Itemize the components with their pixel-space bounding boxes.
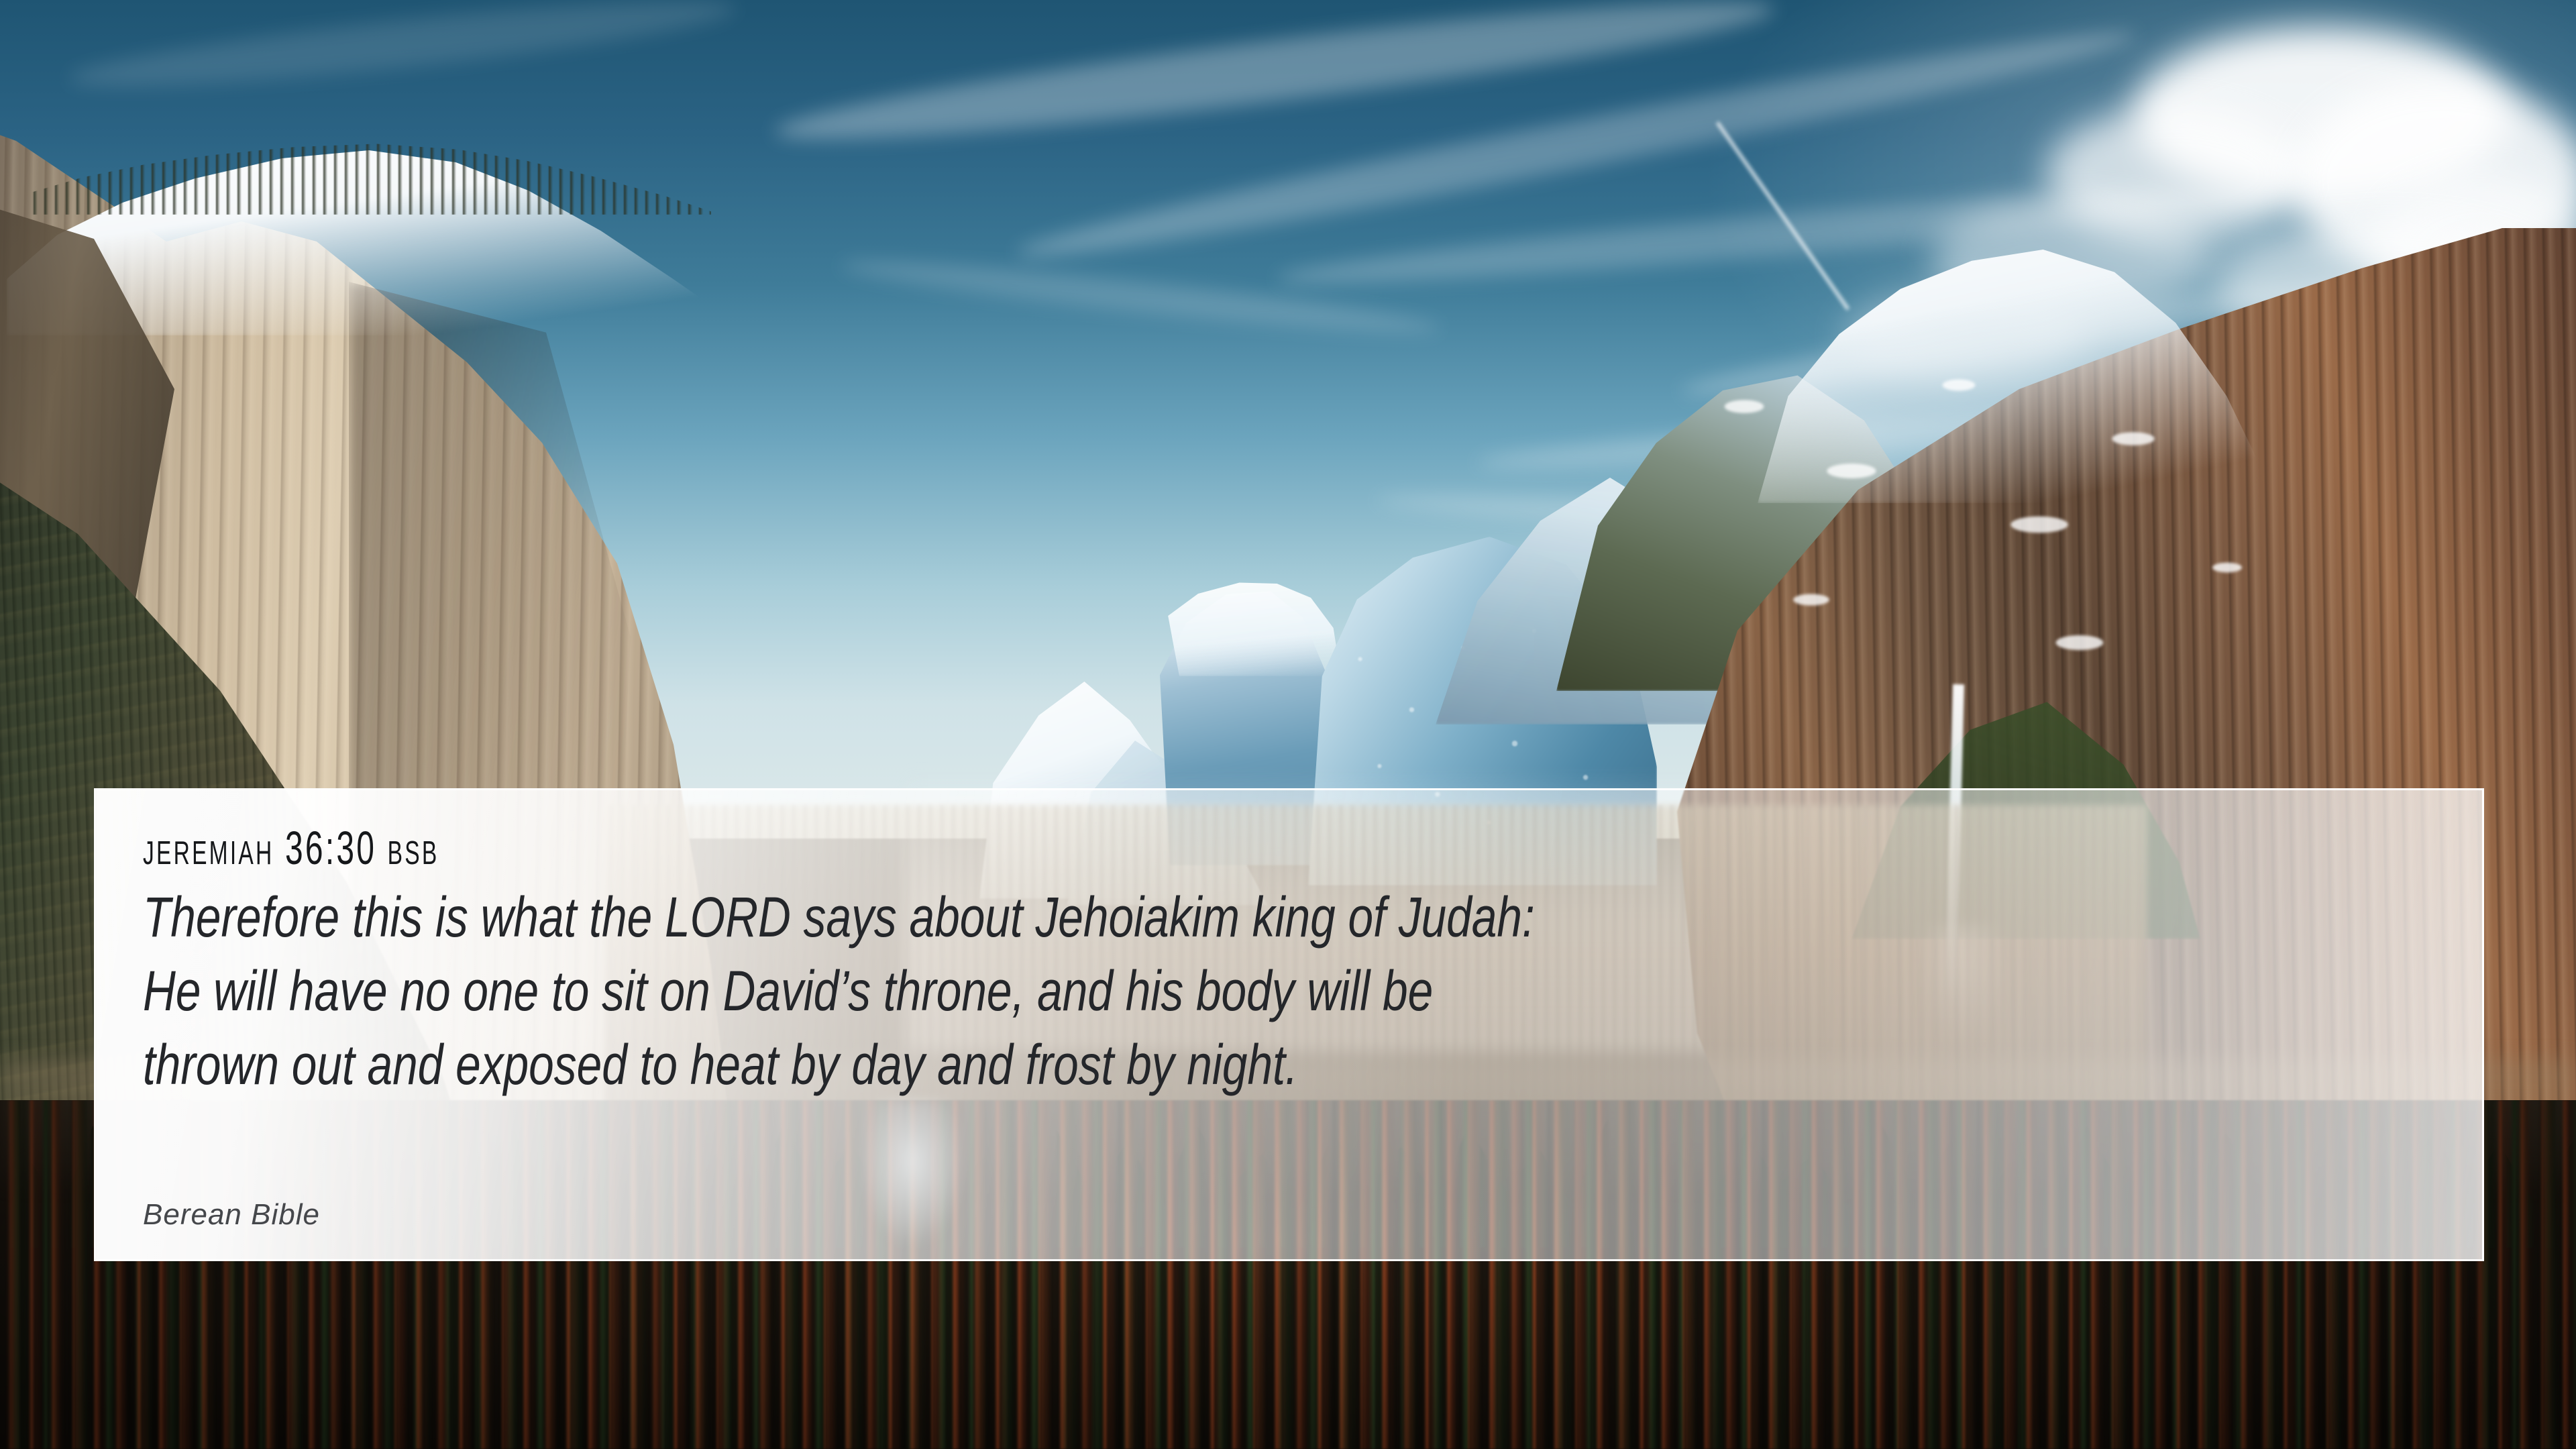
verse-source-attribution: Berean Bible [143, 1200, 320, 1230]
verse-reference: Jeremiah 36:30 BSB [143, 825, 1977, 872]
verse-overlay-card: Jeremiah 36:30 BSB Therefore this is wha… [94, 788, 2484, 1261]
verse-text: Therefore this is what the LORD says abo… [143, 880, 2431, 1102]
half-dome-snowcap [1161, 576, 1348, 676]
verse-image-canvas: Jeremiah 36:30 BSB Therefore this is wha… [0, 0, 2576, 1449]
